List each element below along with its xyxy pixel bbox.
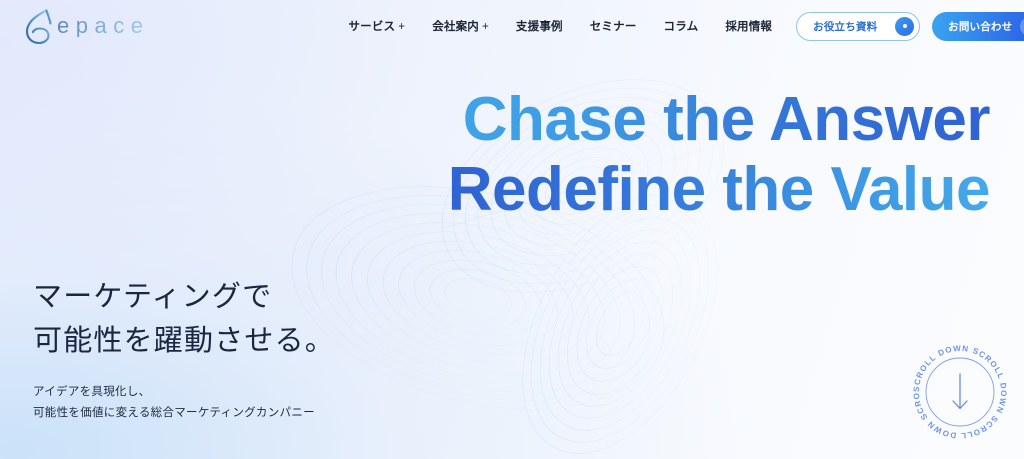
water-drop-e-icon — [22, 6, 58, 46]
contact-label: お問い合わせ — [948, 19, 1012, 34]
hero-headline: Chase the Answer Redefine the Value — [448, 88, 990, 221]
useful-documents-label: お役立ち資料 — [813, 19, 877, 34]
hero-jp-subtext: アイデアを具現化し、 可能性を価値に変える総合マーケティングカンパニー — [33, 382, 335, 423]
nav-label: サービス — [348, 21, 395, 33]
nav-label: 支援事例 — [516, 21, 563, 33]
useful-documents-button[interactable]: お役立ち資料 — [796, 12, 920, 41]
nav-item-company[interactable]: 会社案内+ — [432, 18, 489, 34]
nav-label: セミナー — [590, 21, 637, 33]
hero-jp-heading-line-1: マーケティングで — [33, 275, 335, 319]
scroll-down-indicator[interactable]: SCROLL DOWN SCROLL DOWN SCROLL DOWN SCRO… — [908, 340, 1012, 444]
hero-jp-heading-line-2: 可能性を躍動させる。 — [33, 319, 335, 363]
nav-label: 会社案内 — [432, 21, 479, 33]
hero-jp-subtext-line-2: 可能性を価値に変える総合マーケティングカンパニー — [33, 403, 335, 423]
arrow-circle-icon — [895, 17, 914, 36]
logo-link[interactable]: epace — [22, 6, 155, 46]
nav-item-column[interactable]: コラム — [664, 18, 699, 34]
hero-jp-heading: マーケティングで 可能性を躍動させる。 — [33, 275, 335, 363]
nav-item-services[interactable]: サービス+ — [348, 18, 405, 34]
hero-headline-line-1: Chase the Answer — [448, 88, 990, 151]
nav-item-recruit[interactable]: 採用情報 — [725, 18, 772, 34]
site-header: epace サービス+ 会社案内+ 支援事例 セミナー コラム 採用情報 お役立… — [0, 0, 1024, 52]
scroll-down-ring-text: SCROLL DOWN SCROLL DOWN SCROLL DOWN SCRO… — [908, 340, 1008, 440]
arrow-down-icon — [953, 374, 967, 409]
logo-wordmark: epace — [57, 15, 155, 37]
hero-jp-subtext-line-1: アイデアを具現化し、 — [33, 382, 335, 402]
contact-button[interactable]: お問い合わせ — [932, 12, 1024, 41]
nav-item-case-studies[interactable]: 支援事例 — [516, 18, 563, 34]
nav-label: コラム — [664, 21, 699, 33]
expand-plus-icon: + — [482, 21, 489, 33]
hero-japanese-copy: マーケティングで 可能性を躍動させる。 アイデアを具現化し、 可能性を価値に変え… — [33, 275, 335, 423]
header-actions: お役立ち資料 お問い合わせ — [796, 12, 1024, 41]
expand-plus-icon: + — [398, 21, 405, 33]
nav-label: 採用情報 — [725, 21, 772, 33]
hero-headline-line-2: Redefine the Value — [448, 158, 990, 221]
nav-item-seminar[interactable]: セミナー — [590, 18, 637, 34]
main-navigation: サービス+ 会社案内+ 支援事例 セミナー コラム 採用情報 — [348, 18, 772, 34]
badge-dot — [903, 24, 907, 28]
hero-section: epace サービス+ 会社案内+ 支援事例 セミナー コラム 採用情報 お役立… — [0, 0, 1024, 459]
arrow-circle-icon — [1020, 17, 1024, 36]
